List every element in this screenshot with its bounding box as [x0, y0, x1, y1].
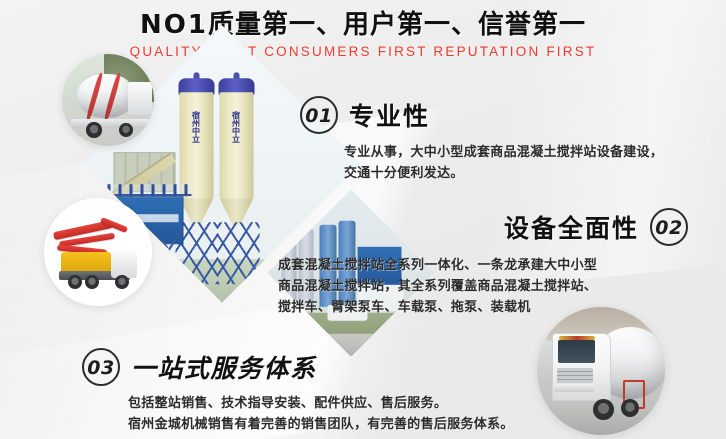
- section-02-body: 成套混凝土搅拌站全系列一体化、一条龙承建大中小型 商品混凝土搅拌站，其全系列覆盖…: [278, 254, 688, 317]
- cab-light-bar: [559, 336, 595, 340]
- truck-wheel-rear: [86, 122, 102, 138]
- truck-front-wheel: [593, 399, 613, 419]
- section-02-number-badge: 02: [650, 208, 688, 246]
- poster-canvas: NO1质量第一、用户第一、信誉第一 QUALITY FIRST CONSUMER…: [0, 0, 726, 439]
- truck-cab-front: [552, 333, 610, 402]
- header-title-cn-rest: 质量第一、用户第一、信誉第一: [208, 9, 586, 39]
- section-02-heading: 设备全面性 02: [278, 208, 688, 246]
- front-grille: [557, 368, 593, 383]
- silo-label: 宿州中立: [232, 100, 242, 154]
- pump-truck-cab: [111, 250, 137, 278]
- section-01-number-badge: 01: [300, 96, 338, 134]
- pump-wheel-2: [85, 275, 99, 289]
- feature-section-01: 01 专业性 专业从事，大中小型成套商品混凝土搅拌站设备建设， 交通十分便利发达…: [300, 96, 663, 183]
- section-03-body-line-1: 包括整站销售、技术指导安装、配件供应、售后服务。: [128, 392, 514, 413]
- section-03-body: 包括整站销售、技术指导安装、配件供应、售后服务。 宿州金城机械销售有着完善的销售…: [128, 392, 514, 434]
- pump-truck-circle-photo: [44, 198, 152, 306]
- feature-section-03: 03 一站式服务体系 包括整站销售、技术指导安装、配件供应、售后服务。 宿州金城…: [82, 348, 514, 434]
- header-title-cn: NO1质量第一、用户第一、信誉第一: [0, 8, 726, 41]
- section-02-body-line-2: 商品混凝土搅拌站，其全系列覆盖商品混凝土搅拌站、: [278, 275, 688, 296]
- section-01-body: 专业从事，大中小型成套商品混凝土搅拌站设备建设， 交通十分便利发达。: [344, 141, 663, 183]
- platform-railing: [108, 184, 192, 196]
- drum-red-stripe-2: [103, 73, 121, 122]
- header-title-no1: NO1: [140, 10, 208, 40]
- truck-chassis: [71, 119, 150, 127]
- section-01-body-line-1: 专业从事，大中小型成套商品混凝土搅拌站设备建设，: [344, 141, 663, 162]
- silo-support-frame-2: [218, 222, 260, 284]
- section-02-body-line-1: 成套混凝土搅拌站全系列一体化、一条龙承建大中小型: [278, 254, 688, 275]
- mixer-truck-circle-photo: [62, 54, 154, 146]
- pump-wheel-1: [68, 275, 82, 289]
- pump-wheel-3: [115, 275, 129, 289]
- windshield: [558, 340, 595, 363]
- cement-silo-2: 宿州中立: [220, 78, 254, 198]
- truck-wheel-front: [119, 123, 133, 137]
- section-03-heading: 03 一站式服务体系: [82, 348, 514, 386]
- silo-label: 宿州中立: [192, 100, 202, 154]
- section-03-number-badge: 03: [82, 348, 120, 386]
- mixer-drum: [77, 74, 134, 118]
- front-bumper: [554, 384, 593, 392]
- section-01-title: 专业性: [349, 97, 430, 133]
- mixer-truck-front-scene: [537, 307, 665, 435]
- mixer-truck-scene: [62, 54, 154, 146]
- section-02-title: 设备全面性: [504, 209, 639, 245]
- section-03-body-line-2: 宿州金城机械销售有着完善的销售团队，有完善的售后服务体系。: [128, 413, 514, 434]
- section-01-heading: 01 专业性: [300, 96, 663, 134]
- truck-cab: [128, 82, 152, 115]
- section-02-body-line-3: 搅拌车、臂架泵车、车载泵、拖泵、装载机: [278, 296, 688, 317]
- feature-section-02: 设备全面性 02 成套混凝土搅拌站全系列一体化、一条龙承建大中小型 商品混凝土搅…: [278, 208, 688, 317]
- drum-red-stripe-1: [85, 73, 103, 122]
- silo-cone: [220, 198, 254, 224]
- mixer-truck-large-circle-photo: [537, 307, 665, 435]
- pump-machinery-body: [61, 252, 111, 274]
- pump-truck-scene: [44, 198, 152, 306]
- section-01-body-line-2: 交通十分便利发达。: [344, 162, 663, 183]
- cement-silo-1: 宿州中立: [180, 78, 214, 198]
- section-03-title: 一站式服务体系: [131, 349, 317, 385]
- silo-cone: [180, 198, 214, 224]
